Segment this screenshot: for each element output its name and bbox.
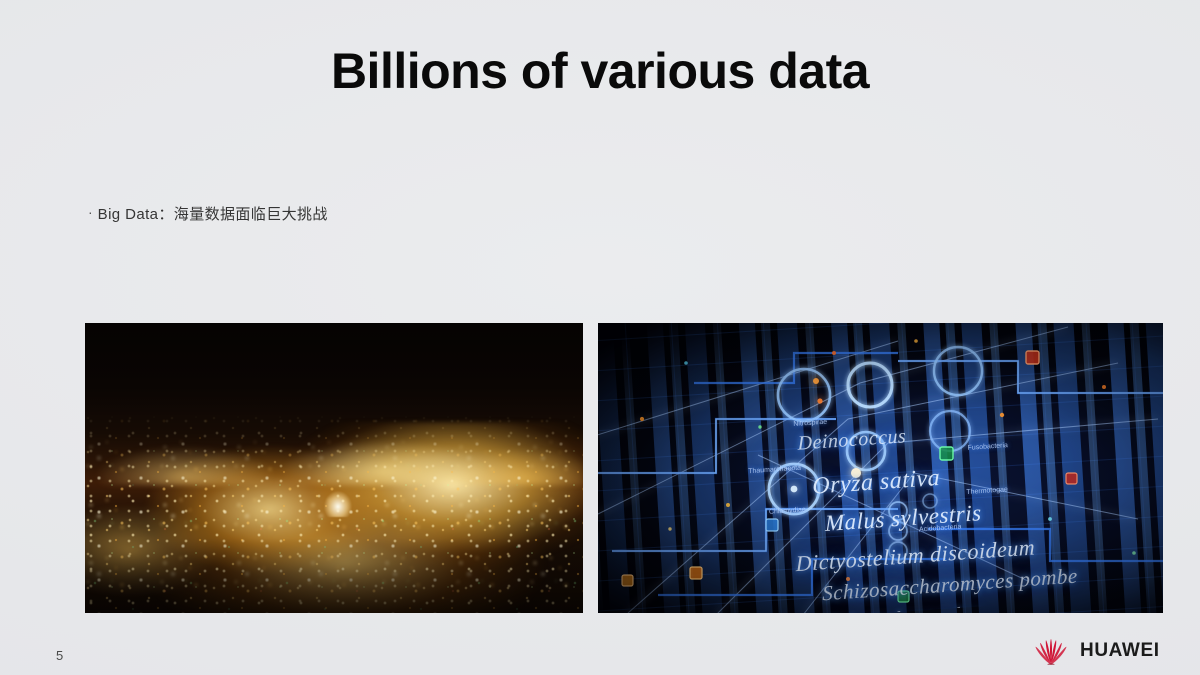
taxon-label: Thermotogae bbox=[966, 486, 1008, 496]
city-foreground-shadow bbox=[85, 538, 583, 613]
page-number: 5 bbox=[56, 648, 63, 663]
bullet-list-item: · Big Data：海量数据面临巨大挑战 bbox=[88, 203, 328, 224]
network-species-labels: Deinococcus Oryza sativa Malus sylvestri… bbox=[598, 323, 1163, 613]
bullet-marker-icon: · bbox=[88, 205, 93, 219]
huawei-logo: HUAWEI bbox=[1031, 637, 1160, 665]
bullet-item-label: Big Data：海量数据面临巨大挑战 bbox=[98, 203, 328, 224]
taxon-label: Chlamydiae bbox=[769, 506, 806, 516]
data-network-photo: Deinococcus Oryza sativa Malus sylvestri… bbox=[598, 323, 1163, 613]
species-label: Malus sylvestris bbox=[825, 500, 982, 537]
species-label: Deinococcus bbox=[797, 425, 906, 456]
huawei-wordmark: HUAWEI bbox=[1080, 640, 1160, 662]
taxon-label: Fusobacteria bbox=[967, 442, 1007, 452]
page-title: Billions of various data bbox=[0, 44, 1200, 99]
huawei-flower-icon bbox=[1031, 637, 1071, 665]
taxon-label: Nitrospirae bbox=[793, 419, 827, 428]
species-label: Oryza sativa bbox=[812, 465, 940, 501]
taxon-label: Thaumarchaeota bbox=[748, 465, 801, 476]
presentation-slide: Billions of various data · Big Data：海量数据… bbox=[0, 0, 1200, 675]
city-bright-landmark bbox=[324, 491, 352, 517]
taxon-label: Acidobacteria bbox=[919, 523, 961, 533]
city-lights-photo bbox=[85, 323, 583, 613]
